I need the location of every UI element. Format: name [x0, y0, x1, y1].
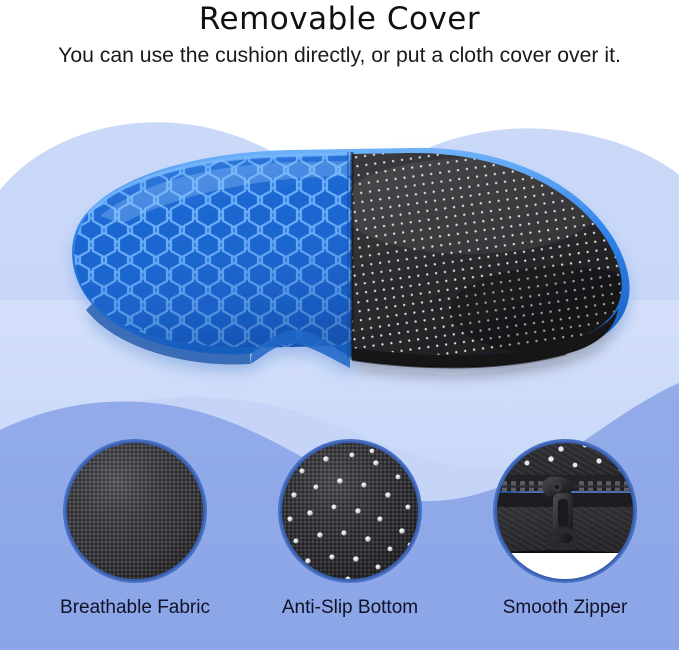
feature-row: Breathable Fabric — [0, 430, 679, 630]
feature-smooth-zipper: Smooth Zipper — [475, 430, 655, 620]
smooth-zipper-swatch — [491, 437, 639, 585]
product-image — [0, 96, 679, 396]
feature-breathable-fabric: Breathable Fabric — [45, 430, 225, 620]
feature-label: Breathable Fabric — [45, 596, 225, 620]
product-infographic: Removable Cover You can use the cushion … — [0, 0, 679, 650]
header: Removable Cover You can use the cushion … — [0, 0, 679, 96]
feature-label: Anti-Slip Bottom — [260, 596, 440, 620]
breathable-fabric-swatch — [61, 437, 209, 585]
anti-slip-bottom-swatch — [276, 437, 424, 585]
feature-label: Smooth Zipper — [475, 596, 655, 620]
page-title: Removable Cover — [0, 1, 679, 37]
feature-anti-slip-bottom: Anti-Slip Bottom — [260, 430, 440, 620]
page-subtitle: You can use the cushion directly, or put… — [5, 42, 674, 68]
